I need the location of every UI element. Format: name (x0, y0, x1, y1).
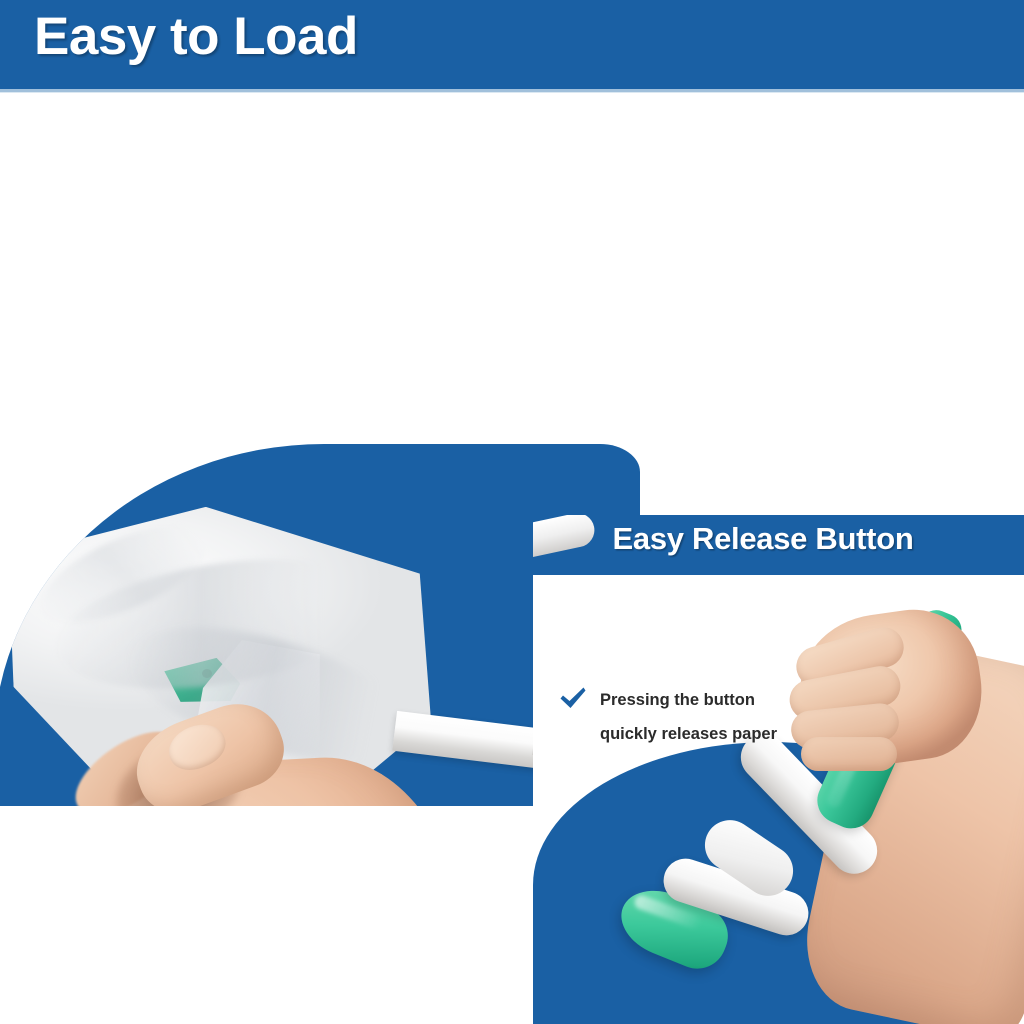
panel1-header-underline (0, 89, 1024, 93)
check-icon (559, 687, 587, 711)
bullet-line-2: quickly releases paper (600, 717, 777, 751)
panel2-bullet-text: Pressing the button quickly releases pap… (600, 683, 777, 752)
bullet-line-1: Pressing the button (600, 683, 777, 717)
panel1-title: Easy to Load (34, 9, 358, 65)
panel2: Pressing the button quickly releases pap… (533, 515, 1024, 1024)
infographic-stage: Easy to Load (0, 0, 1024, 1024)
panel2-body: Pressing the button quickly releases pap… (533, 575, 1024, 1024)
panel1-header-bar: Easy to Load (0, 0, 1024, 92)
panel2-title: Easy Release Button (533, 521, 993, 557)
finger-pinky (801, 737, 897, 771)
panel2-header-bar: Easy Release Button (533, 515, 1024, 575)
